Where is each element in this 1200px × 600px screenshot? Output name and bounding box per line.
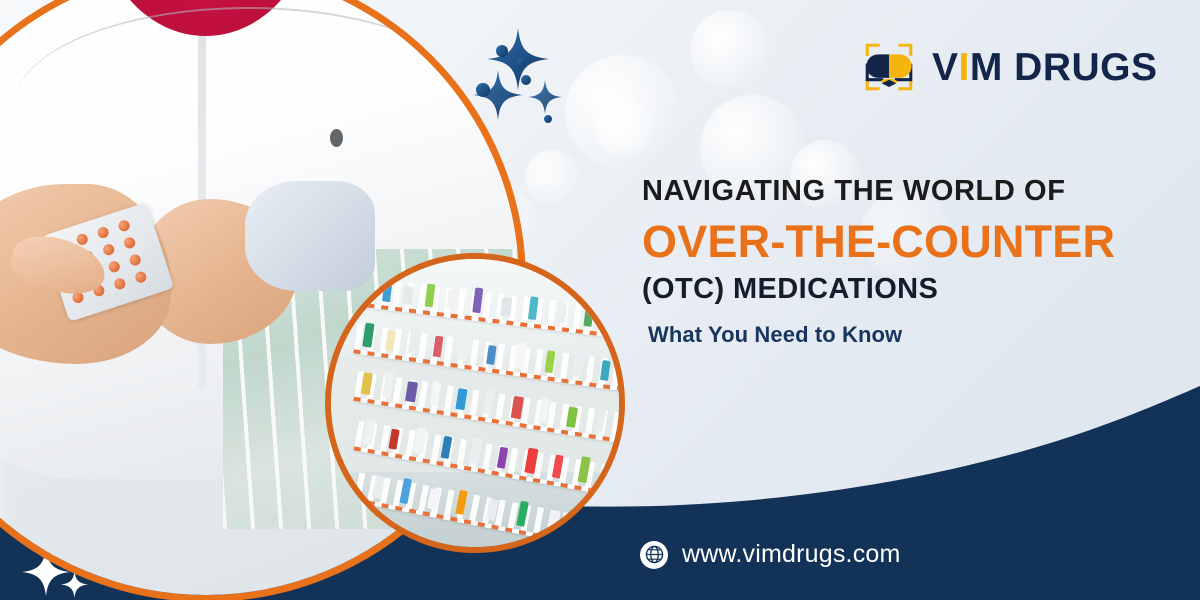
brand-name: VIM DRUGS (932, 48, 1158, 87)
website-url[interactable]: www.vimdrugs.com (682, 540, 901, 569)
pharmacy-aisle-photo-circle (325, 253, 625, 553)
bokeh-light (596, 100, 656, 160)
promotional-banner: VIM DRUGS NAVIGATING THE WORLD OF OVER-T… (0, 0, 1200, 600)
brand-logo[interactable]: VIM DRUGS (860, 38, 1158, 96)
headline-line-1: NAVIGATING THE WORLD OF (642, 176, 1162, 208)
bokeh-light (525, 150, 580, 205)
pharmacy-aisle-scene (331, 259, 619, 547)
footer-website[interactable]: www.vimdrugs.com (640, 540, 901, 569)
brand-name-part2: M DRUGS (970, 46, 1158, 89)
brand-name-highlight: I (959, 46, 970, 89)
pill-capsule-icon (860, 38, 918, 96)
bokeh-light (565, 55, 680, 170)
headline-line-3: (OTC) MEDICATIONS (642, 274, 1162, 306)
coat-button (330, 129, 343, 147)
bokeh-light (690, 10, 770, 90)
brand-name-part1: V (932, 46, 959, 89)
globe-icon (640, 541, 668, 569)
headline-line-2: OVER-THE-COUNTER (642, 218, 1162, 265)
headline-subtitle: What You Need to Know (648, 322, 1162, 348)
headline-block: NAVIGATING THE WORLD OF OVER-THE-COUNTER… (642, 176, 1162, 348)
